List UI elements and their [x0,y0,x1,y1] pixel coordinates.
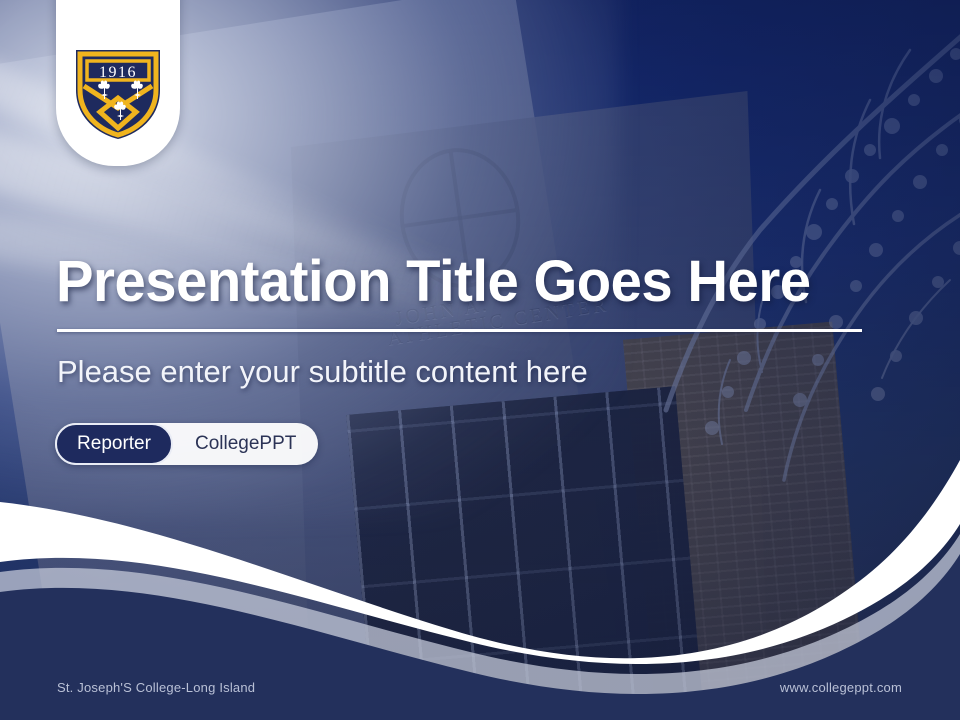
logo-tab: 1916 [56,0,180,166]
footer-institution: St. Joseph'S College-Long Island [57,680,255,695]
presentation-title-slide: JOHN A. ATHLETIC CENTER [0,0,960,720]
college-crest-icon: 1916 [72,46,164,142]
footer-website[interactable]: www.collegeppt.com [780,680,902,695]
reporter-role-label: Reporter [55,423,173,465]
reporter-name-label: CollegePPT [173,433,296,455]
crest-year: 1916 [99,64,137,81]
reporter-badge[interactable]: Reporter CollegePPT [55,423,318,465]
title-divider [57,329,862,332]
page-subtitle: Please enter your subtitle content here [57,352,588,392]
page-title: Presentation Title Goes Here [56,247,861,317]
